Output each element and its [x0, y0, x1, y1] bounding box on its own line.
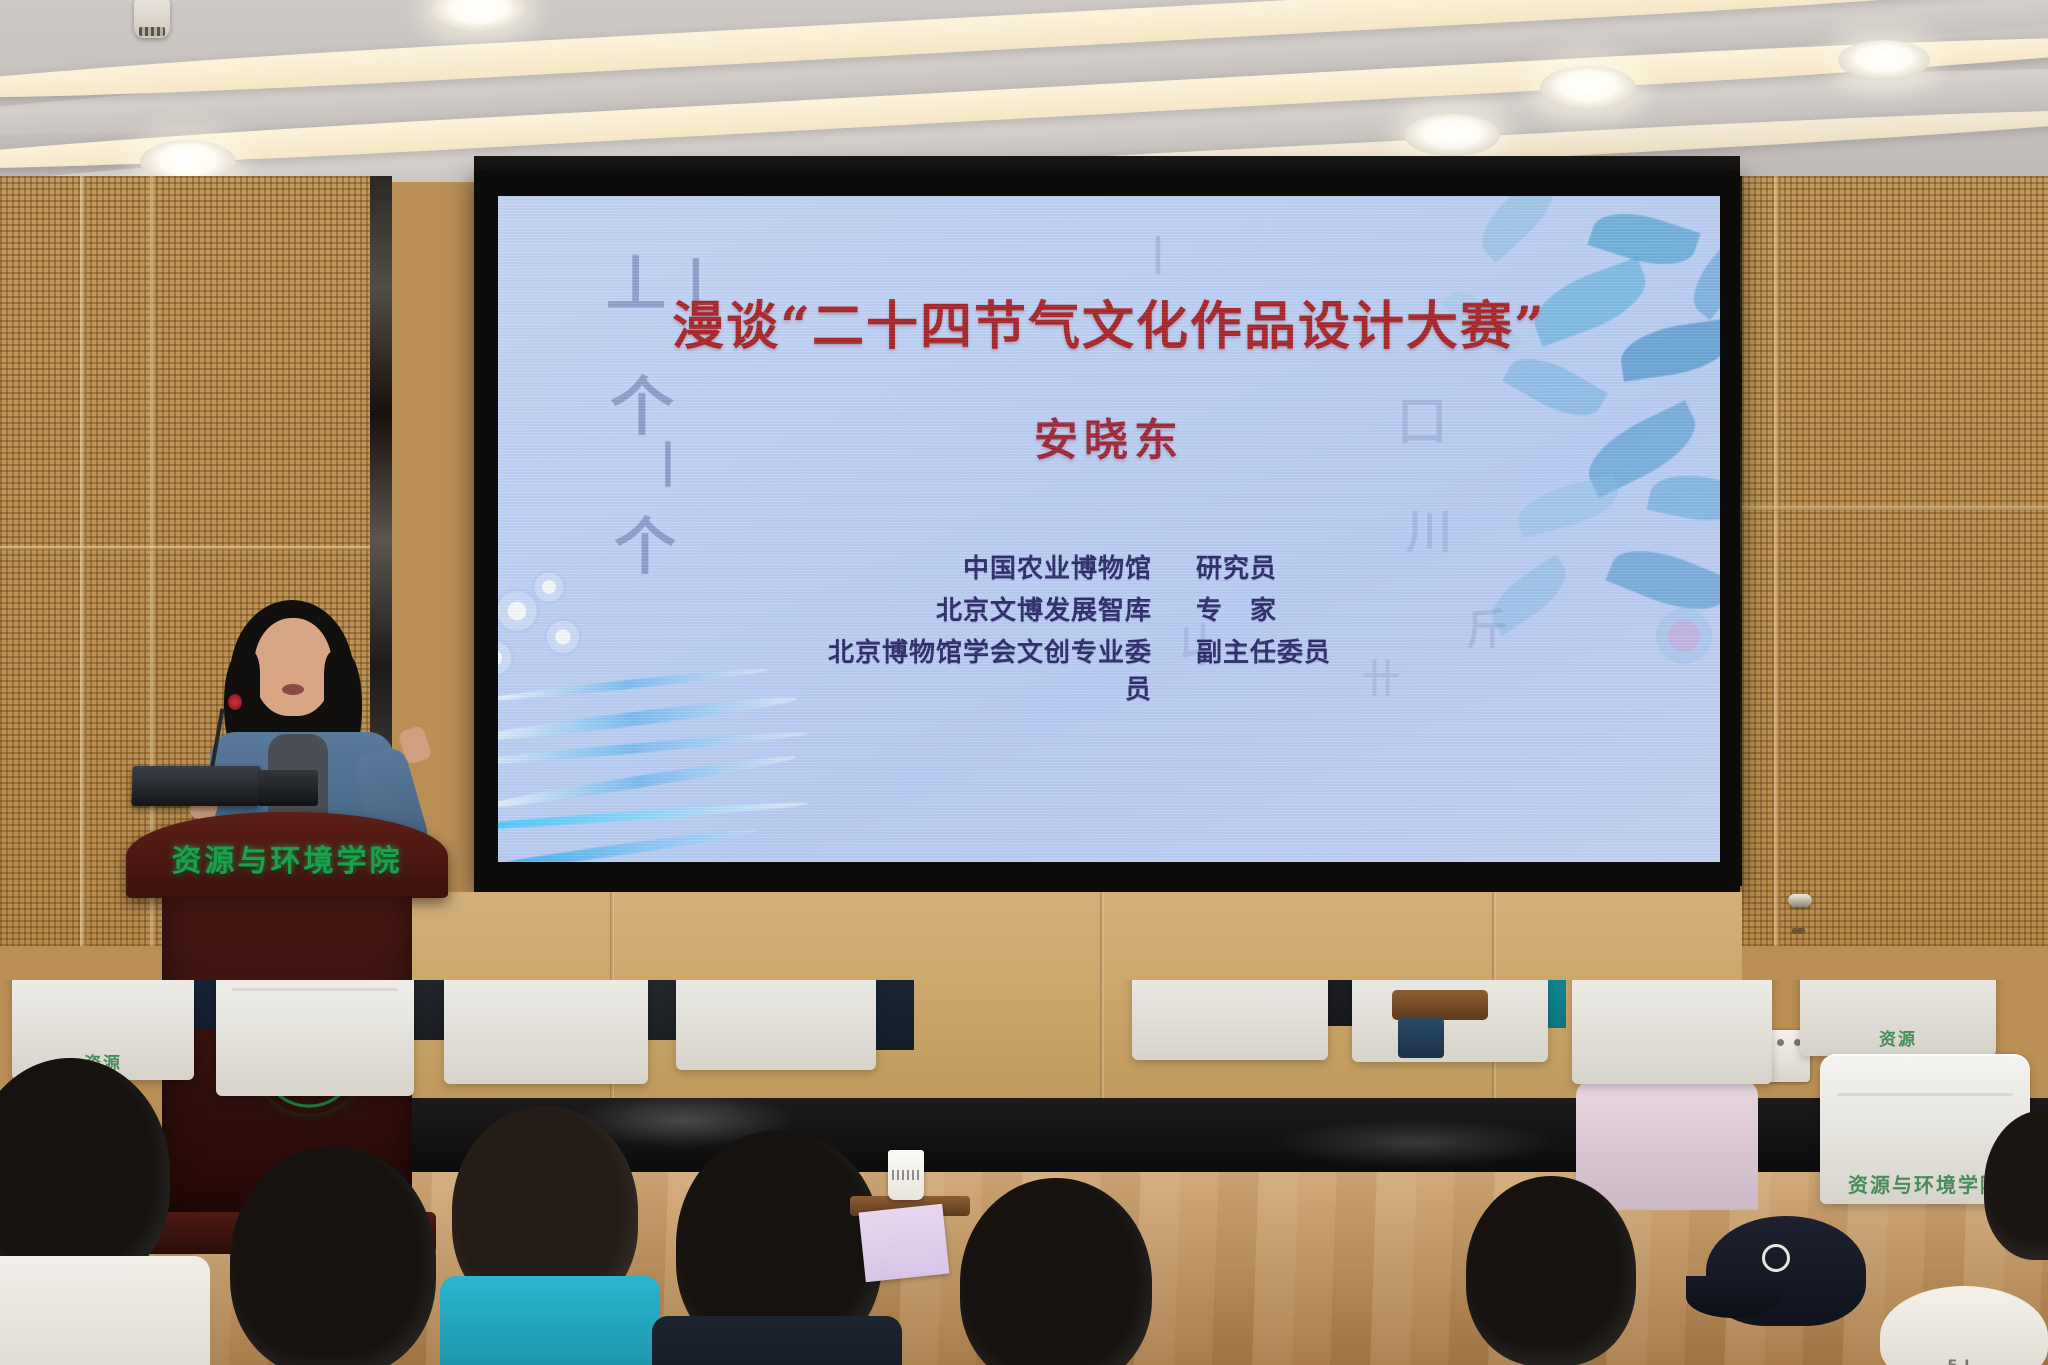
- door-handle[interactable]: [1788, 894, 1812, 907]
- audience-area: 资源 资源 资源与环境学院 F.L.: [0, 980, 2048, 1365]
- decor-glyph: 丨: [1138, 224, 1178, 282]
- downlight: [1838, 40, 1930, 80]
- microphone-icon: [228, 694, 242, 710]
- audience-head: [1466, 1176, 1636, 1365]
- ceiling: [0, 0, 2048, 182]
- audience-body: [652, 1316, 902, 1365]
- seat: 资源: [1800, 980, 1996, 1056]
- seat-arm-base: [1398, 1018, 1444, 1058]
- audience-head: [960, 1178, 1152, 1365]
- lecture-hall-photo: 丄 丨 个 个 丨 丨 囗 川 斤 丩 卄 漫谈“二十四节气文化作品设计大赛” …: [0, 0, 2048, 1365]
- slide-credentials: 中国农业博物馆 研究员 北京文博发展智库 专 家 北京博物馆学会文创专业委员 副…: [498, 548, 1720, 706]
- seat: [1132, 980, 1328, 1060]
- wall-seam: [0, 546, 384, 551]
- credential-role: 副主任委员: [1152, 632, 1396, 669]
- presenter-laptop: [131, 766, 260, 806]
- credential-row: 北京文博发展智库 专 家: [822, 590, 1396, 627]
- audience-body: [1576, 1080, 1758, 1210]
- downlight: [430, 0, 526, 32]
- credential-role: 专 家: [1152, 590, 1396, 627]
- credential-org: 中国农业博物馆: [822, 548, 1152, 585]
- audience-body: [0, 1256, 210, 1365]
- audience-head: [0, 1058, 170, 1288]
- seat-armrest: [1392, 990, 1488, 1020]
- wall-seam: [80, 176, 87, 946]
- credential-org: 北京博物馆学会文创专业委员: [822, 632, 1152, 706]
- credential-row: 北京博物馆学会文创专业委员 副主任委员: [822, 632, 1396, 706]
- presentation-slide: 丄 丨 个 个 丨 丨 囗 川 斤 丩 卄 漫谈“二十四节气文化作品设计大赛” …: [498, 196, 1720, 862]
- audience-head: [230, 1146, 436, 1365]
- downlight: [1404, 114, 1500, 156]
- credential-row: 中国农业博物馆 研究员: [822, 548, 1396, 585]
- door-lock-icon: [1792, 928, 1805, 934]
- audience-body: [440, 1276, 660, 1365]
- credential-role: 研究员: [1152, 548, 1396, 585]
- presenter-mouth: [282, 684, 304, 695]
- seat-cover-text: 资源: [1800, 1025, 1996, 1050]
- slide-speaker-name: 安晓东: [498, 404, 1720, 468]
- wall-seam: [1774, 176, 1781, 946]
- baseball-cap-white: [1880, 1286, 2048, 1365]
- security-camera-icon: [134, 0, 170, 38]
- paper-cup: [888, 1150, 924, 1200]
- seat: [676, 980, 876, 1070]
- seat: [216, 980, 414, 1096]
- wall-seam: [1742, 506, 2048, 511]
- podium-name-plate: 资源与环境学院: [126, 836, 448, 880]
- presenter-head: [254, 618, 332, 716]
- seat: [1572, 980, 1772, 1084]
- cap-brim: [1686, 1276, 1782, 1318]
- downlight: [1540, 66, 1636, 110]
- wall-panel-right: [1742, 176, 2048, 946]
- cap-logo: [1762, 1244, 1790, 1272]
- presenter-laptop-secondary: [258, 770, 318, 806]
- credential-org: 北京文博发展智库: [822, 590, 1152, 627]
- slide-title: 漫谈“二十四节气文化作品设计大赛”: [498, 284, 1720, 359]
- notebook: [859, 1204, 950, 1282]
- seat: [444, 980, 648, 1084]
- cap-text: F.L.: [1900, 1358, 2030, 1365]
- podium-top: 资源与环境学院: [126, 812, 448, 898]
